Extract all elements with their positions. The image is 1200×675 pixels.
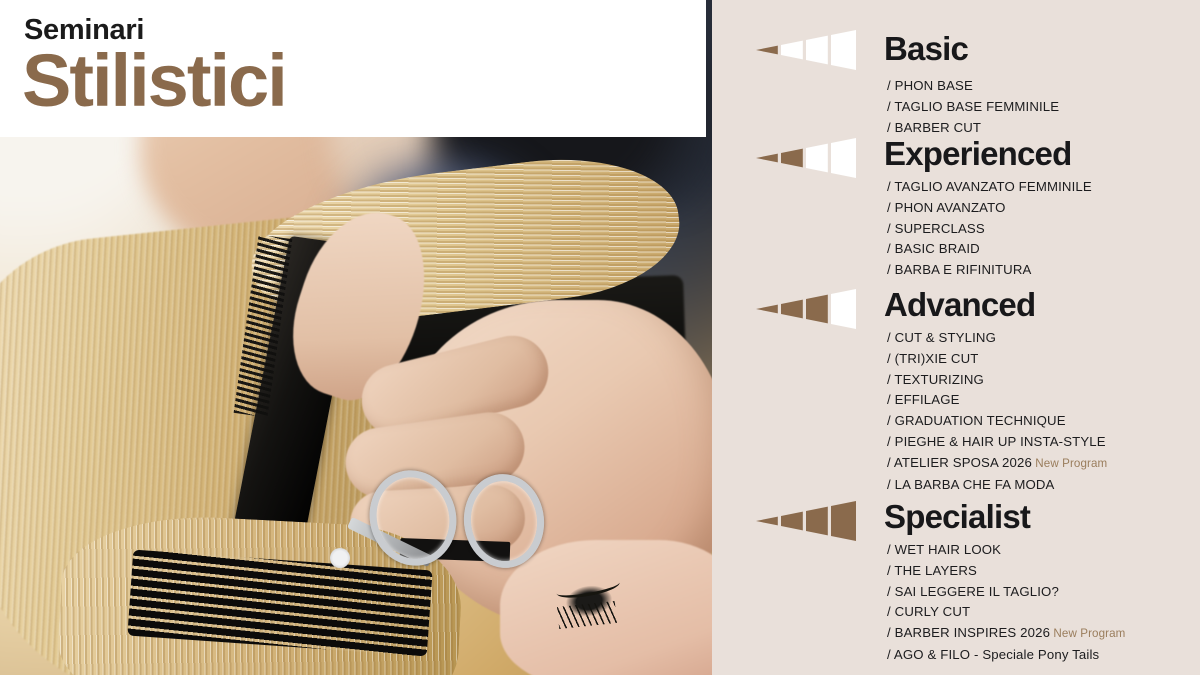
rating-segment-filled bbox=[781, 149, 803, 168]
course-item[interactable]: / TAGLIO AVANZATO FEMMINILE bbox=[887, 177, 1092, 198]
slide-root: Seminari Stilistici Basic / PHON BASE/ T… bbox=[0, 0, 1200, 675]
level-wedge-icon bbox=[756, 138, 856, 178]
course-item[interactable]: / GRADUATION TECHNIQUE bbox=[887, 411, 1107, 432]
course-name: BARBER CUT bbox=[895, 120, 982, 135]
title-block: Seminari Stilistici bbox=[0, 0, 706, 137]
course-bullet-slash: / bbox=[887, 392, 895, 407]
course-item[interactable]: / LA BARBA CHE FA MODA bbox=[887, 475, 1107, 496]
course-item[interactable]: / TEXTURIZING bbox=[887, 370, 1107, 391]
rating-segment-filled bbox=[806, 295, 828, 324]
course-name: THE LAYERS bbox=[894, 563, 977, 578]
rating-segment-empty bbox=[831, 289, 856, 329]
course-name: BARBER INSPIRES 2026 bbox=[895, 625, 1050, 640]
course-name: WET HAIR LOOK bbox=[895, 542, 1002, 557]
level-title: Advanced bbox=[884, 288, 1035, 321]
level-title: Specialist bbox=[884, 500, 1030, 533]
course-item[interactable]: / EFFILAGE bbox=[887, 390, 1107, 411]
course-name: AGO & FILO - Speciale Pony Tails bbox=[894, 647, 1099, 662]
rating-segment-filled bbox=[806, 507, 828, 536]
level-rating-icon bbox=[756, 138, 856, 178]
course-item[interactable]: / CUT & STYLING bbox=[887, 328, 1107, 349]
course-bullet-slash: / bbox=[887, 604, 895, 619]
new-program-badge: New Program bbox=[1050, 627, 1125, 640]
course-item[interactable]: / THE LAYERS bbox=[887, 561, 1125, 582]
course-bullet-slash: / bbox=[887, 330, 895, 345]
course-list: / PHON BASE/ TAGLIO BASE FEMMINILE/ BARB… bbox=[887, 76, 1059, 138]
rating-segment-empty bbox=[781, 41, 803, 60]
course-bullet-slash: / bbox=[887, 241, 895, 256]
rating-segment-empty bbox=[831, 30, 856, 70]
new-program-badge: New Program bbox=[1032, 457, 1107, 470]
course-list: / TAGLIO AVANZATO FEMMINILE/ PHON AVANZA… bbox=[887, 177, 1092, 281]
course-name: TAGLIO BASE FEMMINILE bbox=[894, 99, 1059, 114]
course-name: TAGLIO AVANZATO FEMMINILE bbox=[894, 179, 1091, 194]
course-name: BASIC BRAID bbox=[895, 241, 980, 256]
rating-segment-filled bbox=[756, 154, 778, 163]
course-name: CUT & STYLING bbox=[895, 330, 996, 345]
course-bullet-slash: / bbox=[887, 625, 895, 640]
level-wedge-icon bbox=[756, 501, 856, 541]
course-bullet-slash: / bbox=[887, 434, 895, 449]
rating-segment-filled bbox=[756, 517, 778, 526]
course-list: / CUT & STYLING/ (TRI)XIE CUT/ TEXTURIZI… bbox=[887, 328, 1107, 495]
rating-segment-empty bbox=[806, 144, 828, 173]
course-item[interactable]: / BASIC BRAID bbox=[887, 239, 1092, 260]
course-name: SUPERCLASS bbox=[895, 221, 985, 236]
course-bullet-slash: / bbox=[887, 455, 894, 470]
course-name: SAI LEGGERE IL TAGLIO? bbox=[895, 584, 1059, 599]
level-title: Basic bbox=[884, 32, 968, 65]
course-name: PIEGHE & HAIR UP INSTA-STYLE bbox=[895, 434, 1106, 449]
course-name: PHON AVANZATO bbox=[895, 200, 1006, 215]
level-rating-icon bbox=[756, 501, 856, 541]
course-bullet-slash: / bbox=[887, 542, 895, 557]
course-item[interactable]: / (TRI)XIE CUT bbox=[887, 349, 1107, 370]
course-item[interactable]: / WET HAIR LOOK bbox=[887, 540, 1125, 561]
course-bullet-slash: / bbox=[887, 351, 895, 366]
course-item[interactable]: / BARBER INSPIRES 2026 New Program bbox=[887, 623, 1125, 645]
course-name: (TRI)XIE CUT bbox=[895, 351, 979, 366]
course-item[interactable]: / AGO & FILO - Speciale Pony Tails bbox=[887, 645, 1125, 666]
course-item[interactable]: / BARBA E RIFINITURA bbox=[887, 260, 1092, 281]
rating-segment-filled bbox=[781, 512, 803, 531]
course-item[interactable]: / ATELIER SPOSA 2026 New Program bbox=[887, 453, 1107, 475]
rating-segment-empty bbox=[806, 36, 828, 65]
course-item[interactable]: / PIEGHE & HAIR UP INSTA-STYLE bbox=[887, 432, 1107, 453]
rating-segment-empty bbox=[831, 138, 856, 178]
rating-segment-filled bbox=[781, 300, 803, 319]
course-item[interactable]: / TAGLIO BASE FEMMINILE bbox=[887, 97, 1059, 118]
course-item[interactable]: / CURLY CUT bbox=[887, 602, 1125, 623]
course-item[interactable]: / SUPERCLASS bbox=[887, 219, 1092, 240]
level-wedge-icon bbox=[756, 289, 856, 329]
course-list: / WET HAIR LOOK/ THE LAYERS/ SAI LEGGERE… bbox=[887, 540, 1125, 666]
level-wedge-icon bbox=[756, 30, 856, 70]
course-name: TEXTURIZING bbox=[894, 372, 984, 387]
course-name: GRADUATION TECHNIQUE bbox=[895, 413, 1066, 428]
course-bullet-slash: / bbox=[887, 262, 895, 277]
rating-segment-filled bbox=[756, 46, 778, 55]
course-name: CURLY CUT bbox=[895, 604, 971, 619]
course-name: LA BARBA CHE FA MODA bbox=[895, 477, 1055, 492]
course-name: BARBA E RIFINITURA bbox=[895, 262, 1032, 277]
level-rating-icon bbox=[756, 289, 856, 329]
level-title: Experienced bbox=[884, 137, 1071, 170]
course-item[interactable]: / PHON AVANZATO bbox=[887, 198, 1092, 219]
course-item[interactable]: / PHON BASE bbox=[887, 76, 1059, 97]
course-name: PHON BASE bbox=[895, 78, 973, 93]
course-bullet-slash: / bbox=[887, 120, 895, 135]
course-bullet-slash: / bbox=[887, 477, 895, 492]
level-rating-icon bbox=[756, 30, 856, 70]
course-name: EFFILAGE bbox=[895, 392, 960, 407]
course-bullet-slash: / bbox=[887, 221, 895, 236]
page-title: Stilistici bbox=[22, 44, 286, 118]
course-bullet-slash: / bbox=[887, 647, 894, 662]
course-bullet-slash: / bbox=[887, 413, 895, 428]
course-name: ATELIER SPOSA 2026 bbox=[894, 455, 1032, 470]
course-bullet-slash: / bbox=[887, 200, 895, 215]
course-bullet-slash: / bbox=[887, 584, 895, 599]
photo-scissor-tip bbox=[330, 548, 350, 568]
course-item[interactable]: / SAI LEGGERE IL TAGLIO? bbox=[887, 582, 1125, 603]
rating-segment-filled bbox=[831, 501, 856, 541]
rating-segment-filled bbox=[756, 305, 778, 314]
levels-panel: Basic / PHON BASE/ TAGLIO BASE FEMMINILE… bbox=[712, 0, 1200, 675]
hero-photo-panel: Seminari Stilistici bbox=[0, 0, 712, 675]
course-bullet-slash: / bbox=[887, 78, 895, 93]
